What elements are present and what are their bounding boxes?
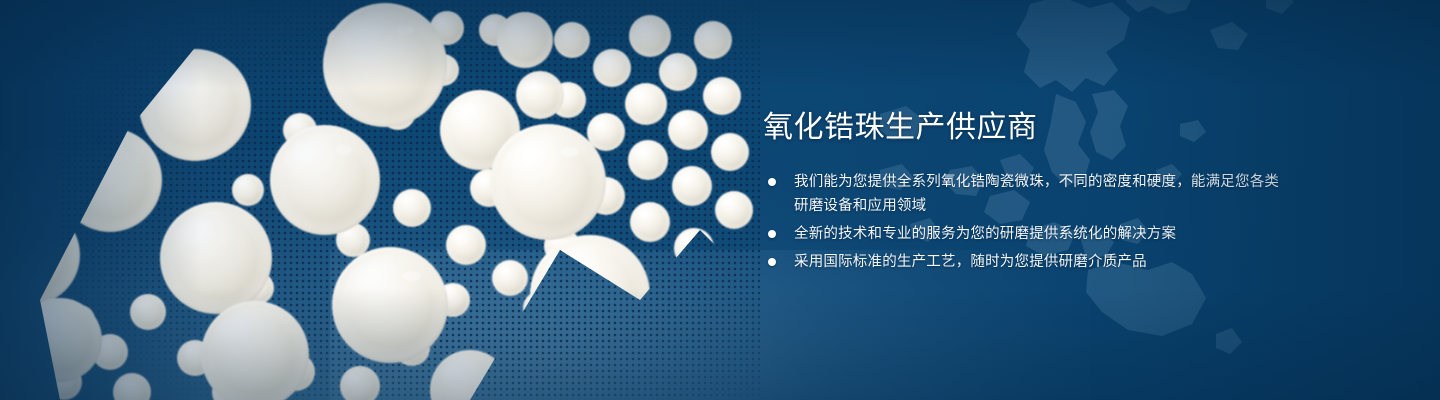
background-vignette [0,0,1440,400]
hero-banner: 氧化锆珠生产供应商 我们能为您提供全系列氧化锆陶瓷微珠，不同的密度和硬度，能满足… [0,0,1440,400]
